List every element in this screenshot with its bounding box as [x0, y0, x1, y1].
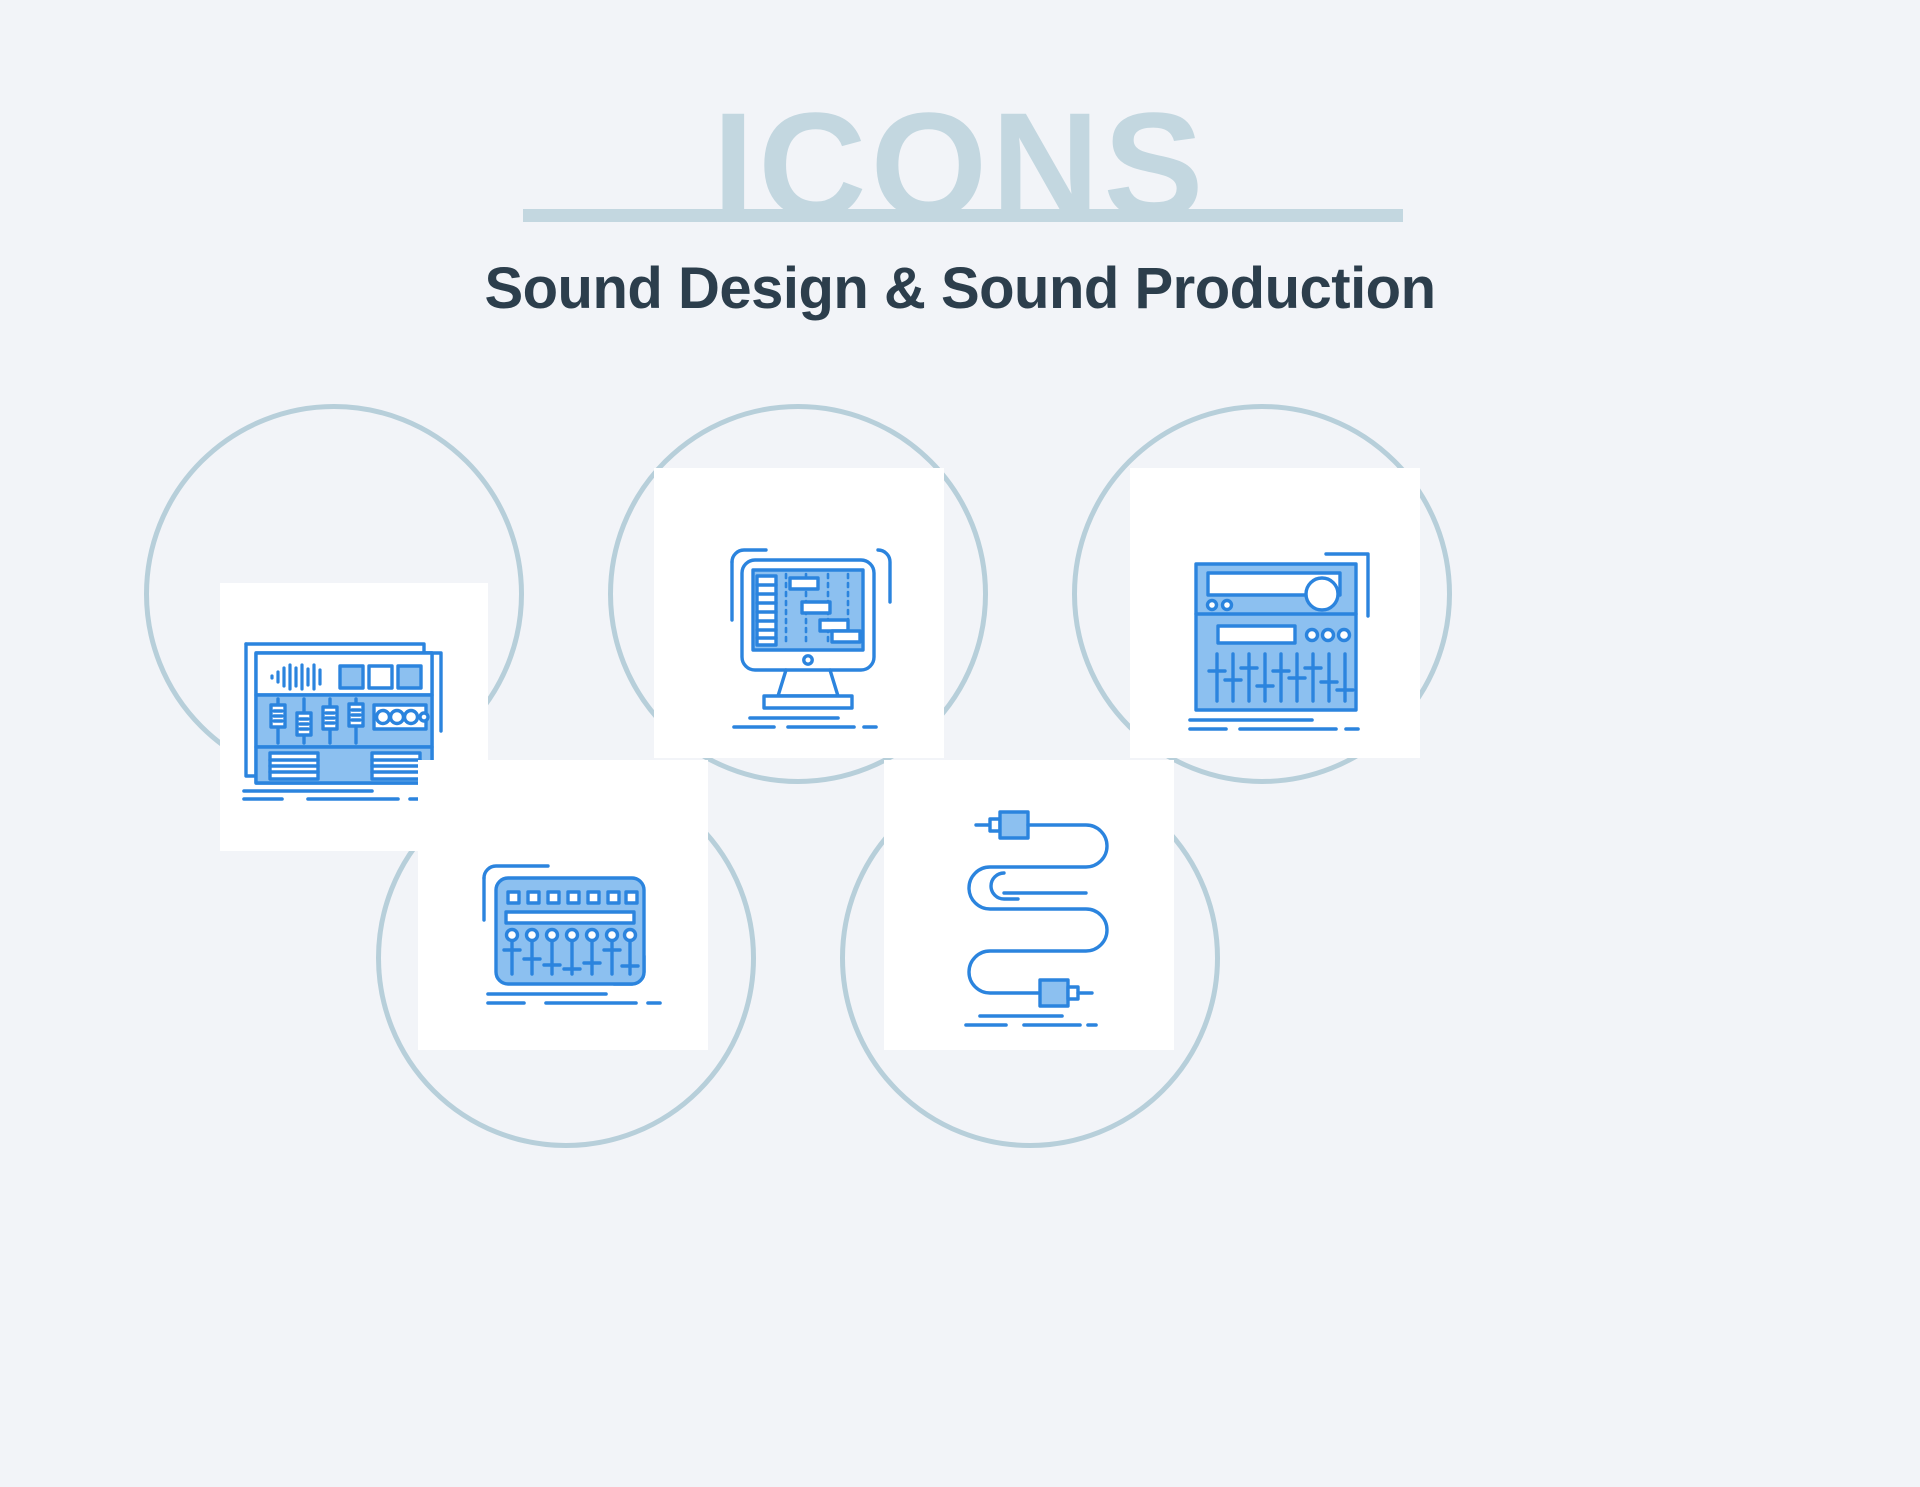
icon-tile-mixing-console[interactable]	[1130, 468, 1420, 758]
watermark-text: ICONS	[0, 96, 1920, 226]
icon-tile-daw-monitor[interactable]	[654, 468, 944, 758]
watermark-underline	[523, 209, 1403, 222]
daw-monitor-icon	[654, 468, 944, 758]
page-title: Sound Design & Sound Production	[0, 255, 1920, 322]
mixing-console-icon	[1130, 468, 1420, 758]
audio-cable-icon	[884, 760, 1174, 1050]
icon-pack-canvas: ICONS Sound Design & Sound Production	[0, 0, 1920, 1487]
equalizer-panel-icon	[418, 760, 708, 1050]
watermark-container: ICONS	[0, 96, 1920, 226]
icon-tile-equalizer-panel[interactable]	[418, 760, 708, 1050]
icon-tile-audio-cable[interactable]	[884, 760, 1174, 1050]
